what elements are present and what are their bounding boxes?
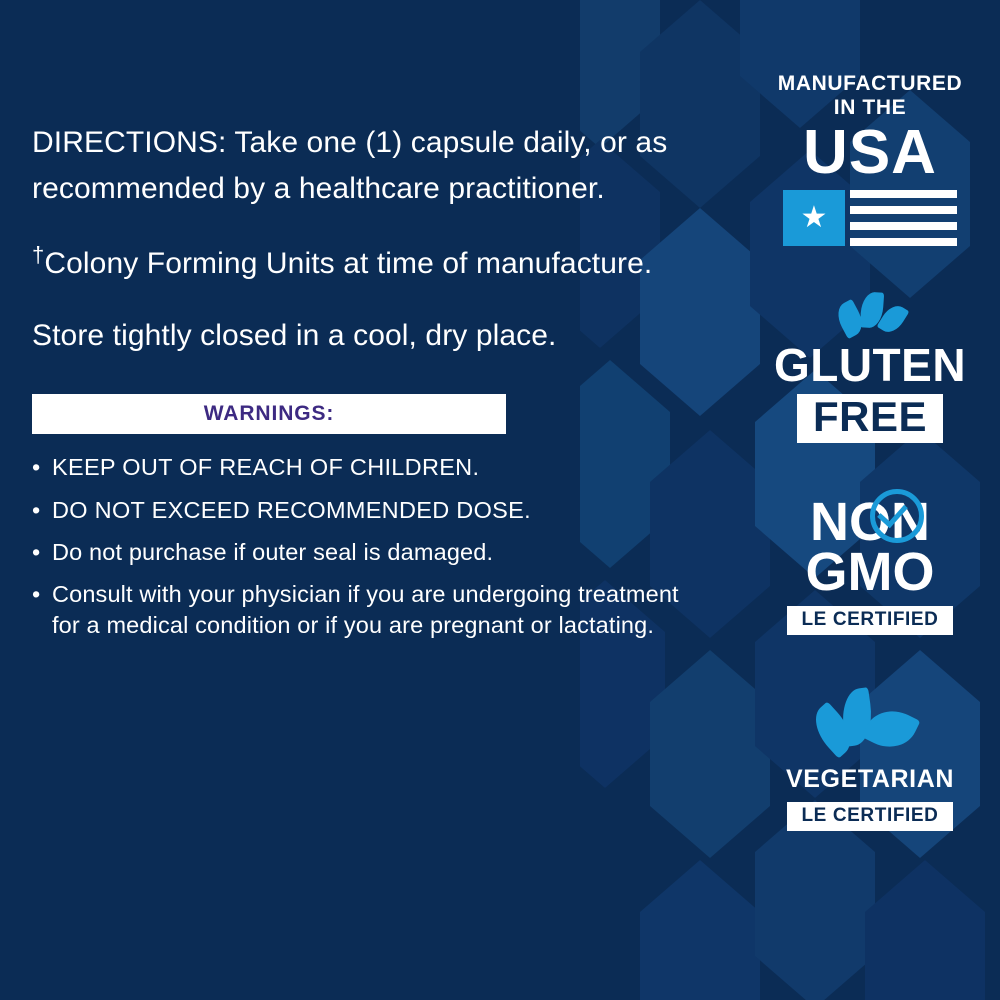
flag-canton: ★	[783, 190, 845, 246]
hex-shape	[865, 860, 985, 1000]
warnings-list: KEEP OUT OF REACH OF CHILDREN. DO NOT EX…	[32, 452, 712, 641]
non-gmo-word2: GMO	[806, 545, 935, 600]
directions-text: DIRECTIONS: Take one (1) capsule daily, …	[32, 120, 712, 211]
flag-stripe	[850, 206, 957, 214]
supplement-label-panel: DIRECTIONS: Take one (1) capsule daily, …	[0, 0, 1000, 1000]
list-item: Do not purchase if outer seal is damaged…	[32, 537, 712, 568]
storage-text: Store tightly closed in a cool, dry plac…	[32, 313, 712, 359]
gluten-free-badge: GLUTEN FREE	[740, 290, 1000, 443]
flag-stripe	[850, 222, 957, 230]
vegetarian-badge-word: VEGETARIAN	[786, 765, 954, 794]
gluten-badge-word: GLUTEN	[774, 342, 966, 389]
list-item: DO NOT EXCEED RECOMMENDED DOSE.	[32, 495, 712, 526]
usa-badge-line2: IN THE	[834, 96, 906, 120]
check-circle-icon	[870, 489, 924, 543]
cfu-note-body: Colony Forming Units at time of manufact…	[44, 247, 652, 280]
star-icon: ★	[801, 203, 828, 233]
usa-badge-line1: MANUFACTURED	[778, 72, 963, 96]
cfu-note-text: †Colony Forming Units at time of manufac…	[32, 241, 712, 287]
label-text-content: DIRECTIONS: Take one (1) capsule daily, …	[32, 120, 712, 653]
warnings-heading-bar: WARNINGS:	[32, 394, 506, 434]
list-item: KEEP OUT OF REACH OF CHILDREN.	[32, 452, 712, 483]
certification-badges: MANUFACTURED IN THE USA ★	[740, 72, 1000, 831]
flag-stripe	[850, 190, 957, 198]
flag-stripe	[850, 238, 957, 246]
usa-flag-icon: ★	[783, 190, 957, 246]
non-gmo-top-row: NON	[810, 495, 930, 549]
usa-badge-word: USA	[803, 121, 937, 184]
list-item: Consult with your physician if you are u…	[32, 579, 712, 642]
hex-shape	[640, 860, 760, 1000]
non-gmo-badge: NON GMO LE CERTIFIED	[740, 495, 1000, 635]
made-in-usa-badge: MANUFACTURED IN THE USA ★	[740, 72, 1000, 246]
wheat-leaves-icon	[833, 290, 907, 338]
dagger-symbol: †	[32, 242, 44, 267]
gluten-badge-free-box: FREE	[797, 394, 943, 443]
vegetarian-badge: VEGETARIAN LE CERTIFIED	[740, 687, 1000, 831]
vegetarian-certified-box: LE CERTIFIED	[787, 802, 952, 831]
flag-stripes	[845, 190, 957, 246]
non-gmo-certified-box: LE CERTIFIED	[787, 606, 952, 635]
warnings-heading-label: WARNINGS:	[204, 402, 335, 426]
vegetarian-leaves-icon	[816, 687, 924, 759]
